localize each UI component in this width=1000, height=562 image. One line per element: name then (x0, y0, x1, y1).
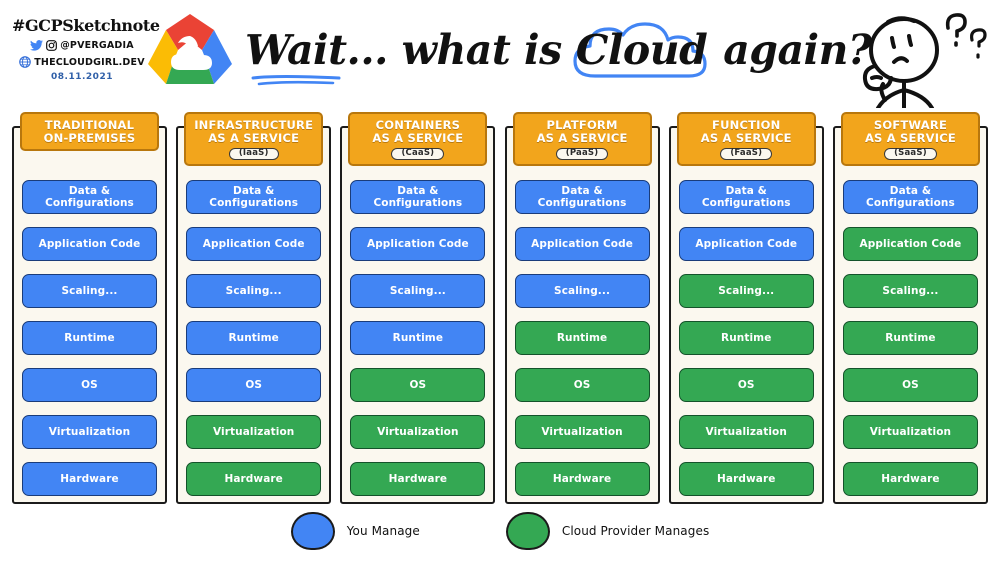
sketchnote-hashtag: #GCPSketchnote (12, 16, 152, 35)
column-abbreviation-badge: (IaaS) (229, 148, 279, 161)
column-title-line: AS A SERVICE (517, 132, 648, 145)
website-url: THECLOUDGIRL.DEV (34, 57, 145, 68)
layer-block: Virtualization (186, 415, 321, 449)
column-function-as-a-service: Data & ConfigurationsApplication CodeSca… (669, 112, 824, 504)
layer-block: Data & Configurations (515, 180, 650, 214)
twitter-icon (30, 40, 43, 51)
card-frame: Data & ConfigurationsApplication CodeSca… (12, 126, 167, 504)
card-frame: Data & ConfigurationsApplication CodeSca… (176, 126, 331, 504)
layer-block: Scaling... (22, 274, 157, 308)
card-frame: Data & ConfigurationsApplication CodeSca… (669, 126, 824, 504)
page-header: #GCPSketchnote @PVERGADIA (0, 0, 1000, 108)
layer-block: Runtime (679, 321, 814, 355)
layer-block: Hardware (22, 462, 157, 496)
layer-block: Runtime (843, 321, 978, 355)
legend: You ManageCloud Provider Manages (0, 508, 1000, 554)
column-abbreviation-badge: (CaaS) (391, 148, 444, 161)
layer-stack: Data & ConfigurationsApplication CodeSca… (671, 180, 822, 496)
column-header-containers-as-a-service[interactable]: CONTAINERSAS A SERVICE(CaaS) (348, 112, 487, 166)
legend-label: Cloud Provider Manages (562, 524, 709, 538)
title-highlight-cloud: Cloud (562, 26, 724, 74)
column-platform-as-a-service: Data & ConfigurationsApplication CodeSca… (505, 112, 660, 504)
column-title-line: PLATFORM (517, 119, 648, 132)
column-abbreviation-badge: (SaaS) (884, 148, 937, 161)
google-cloud-logo (140, 6, 240, 98)
column-header-platform-as-a-service[interactable]: PLATFORMAS A SERVICE(PaaS) (513, 112, 652, 166)
title-part-two: again? (723, 26, 871, 74)
thinking-person-doodle (852, 2, 998, 108)
card-frame: Data & ConfigurationsApplication CodeSca… (505, 126, 660, 504)
layer-block: OS (22, 368, 157, 402)
column-containers-as-a-service: Data & ConfigurationsApplication CodeSca… (340, 112, 495, 504)
title-block: Wait... what is Cloud again? (245, 14, 855, 96)
layer-block: Scaling... (515, 274, 650, 308)
layer-block: Application Code (350, 227, 485, 261)
layer-block: Hardware (515, 462, 650, 496)
layer-stack: Data & ConfigurationsApplication CodeSca… (14, 180, 165, 496)
layer-block: Virtualization (679, 415, 814, 449)
column-title-line: AS A SERVICE (845, 132, 976, 145)
layer-block: Scaling... (350, 274, 485, 308)
column-header-infrastructure-as-a-service[interactable]: INFRASTRUCTUREAS A SERVICE(IaaS) (184, 112, 323, 166)
column-title-line: SOFTWARE (845, 119, 976, 132)
layer-block: OS (679, 368, 814, 402)
social-handle-row: @PVERGADIA (12, 40, 152, 51)
column-title-line: TRADITIONAL (24, 119, 155, 132)
sketchnote-date: 08.11.2021 (12, 72, 152, 82)
layer-block: Scaling... (679, 274, 814, 308)
layer-block: Virtualization (350, 415, 485, 449)
column-title-line: AS A SERVICE (188, 132, 319, 145)
layer-block: Hardware (679, 462, 814, 496)
title-part-one: Wait... what is (245, 26, 562, 74)
legend-swatch-provider (506, 512, 550, 550)
layer-block: Application Code (843, 227, 978, 261)
layer-block: Data & Configurations (843, 180, 978, 214)
website-row: THECLOUDGIRL.DEV (12, 56, 152, 68)
column-title-line: CONTAINERS (352, 119, 483, 132)
layer-stack: Data & ConfigurationsApplication CodeSca… (507, 180, 658, 496)
layer-stack: Data & ConfigurationsApplication CodeSca… (835, 180, 986, 496)
column-abbreviation-badge: (PaaS) (556, 148, 609, 161)
layer-block: Application Code (22, 227, 157, 261)
title-underline (251, 74, 341, 86)
column-title-line: AS A SERVICE (352, 132, 483, 145)
column-title-line: ON-PREMISES (24, 132, 155, 145)
layer-block: Runtime (186, 321, 321, 355)
layer-block: Hardware (186, 462, 321, 496)
globe-icon (19, 56, 31, 68)
column-title-line: FUNCTION (681, 119, 812, 132)
column-header-function-as-a-service[interactable]: FUNCTIONAS A SERVICE(FaaS) (677, 112, 816, 166)
layer-block: Virtualization (22, 415, 157, 449)
layer-block: Virtualization (515, 415, 650, 449)
layer-block: Virtualization (843, 415, 978, 449)
layer-block: Runtime (515, 321, 650, 355)
legend-label: You Manage (347, 524, 420, 538)
column-software-as-a-service: Data & ConfigurationsApplication CodeSca… (833, 112, 988, 504)
legend-item-cloud-provider-manages: Cloud Provider Manages (506, 512, 709, 550)
card-frame: Data & ConfigurationsApplication CodeSca… (340, 126, 495, 504)
layer-block: Data & Configurations (22, 180, 157, 214)
layer-block: Scaling... (186, 274, 321, 308)
layer-block: OS (843, 368, 978, 402)
layer-block: OS (186, 368, 321, 402)
column-title-line: AS A SERVICE (681, 132, 812, 145)
social-handle: @PVERGADIA (60, 40, 134, 51)
layer-block: OS (350, 368, 485, 402)
layer-block: Runtime (350, 321, 485, 355)
service-model-columns: Data & ConfigurationsApplication CodeSca… (12, 112, 988, 504)
legend-swatch-you (291, 512, 335, 550)
layer-block: Hardware (843, 462, 978, 496)
layer-block: Hardware (350, 462, 485, 496)
layer-stack: Data & ConfigurationsApplication CodeSca… (178, 180, 329, 496)
layer-block: Application Code (515, 227, 650, 261)
layer-block: Data & Configurations (186, 180, 321, 214)
column-header-traditional-on-premises[interactable]: TRADITIONALON-PREMISES (20, 112, 159, 151)
layer-block: Data & Configurations (679, 180, 814, 214)
legend-item-you-manage: You Manage (291, 512, 420, 550)
layer-block: Runtime (22, 321, 157, 355)
layer-block: Scaling... (843, 274, 978, 308)
layer-block: Application Code (186, 227, 321, 261)
layer-block: Application Code (679, 227, 814, 261)
column-infrastructure-as-a-service: Data & ConfigurationsApplication CodeSca… (176, 112, 331, 504)
column-header-software-as-a-service[interactable]: SOFTWAREAS A SERVICE(SaaS) (841, 112, 980, 166)
column-abbreviation-badge: (FaaS) (720, 148, 772, 161)
layer-stack: Data & ConfigurationsApplication CodeSca… (342, 180, 493, 496)
branding-block: #GCPSketchnote @PVERGADIA (12, 16, 152, 82)
layer-block: OS (515, 368, 650, 402)
column-title-line: INFRASTRUCTURE (188, 119, 319, 132)
instagram-icon (46, 40, 57, 51)
column-traditional-on-premises: Data & ConfigurationsApplication CodeSca… (12, 112, 167, 504)
layer-block: Data & Configurations (350, 180, 485, 214)
card-frame: Data & ConfigurationsApplication CodeSca… (833, 126, 988, 504)
